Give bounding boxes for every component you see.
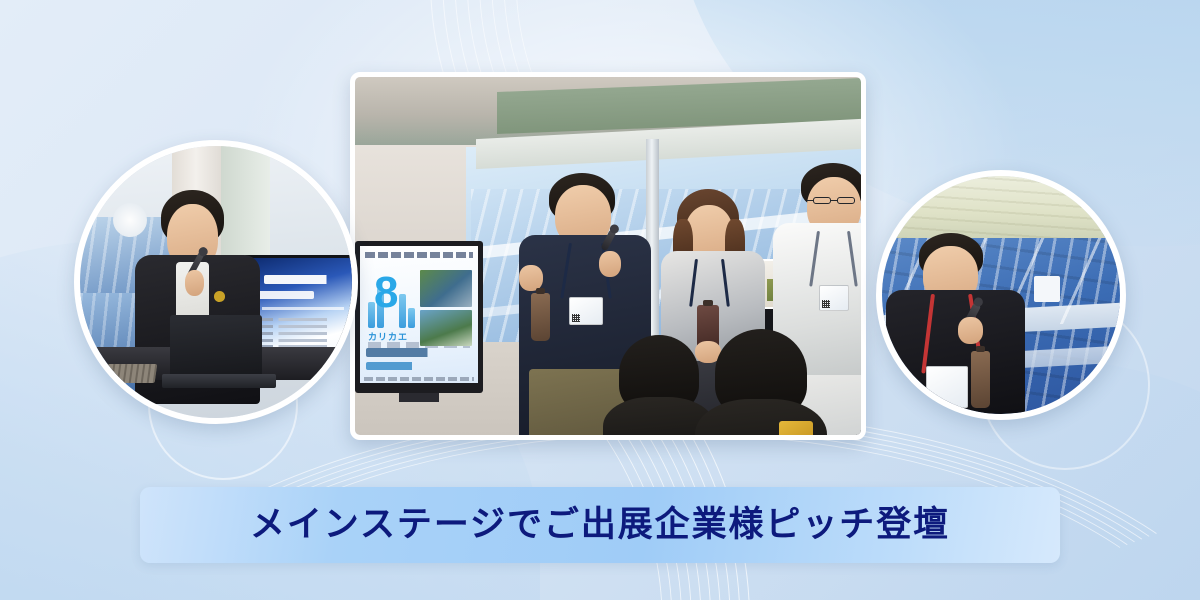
presentation-monitor: 8 カリカエ — [355, 241, 483, 393]
presentation-slide: 8 カリカエ — [360, 246, 478, 383]
photo-right-presenter — [876, 170, 1126, 420]
name-badge — [569, 297, 603, 325]
stadium-sign-box — [1034, 276, 1060, 302]
keyboard — [100, 364, 157, 383]
water-bottle — [531, 293, 550, 341]
audience-member-right — [695, 329, 827, 435]
photo-center-stage-pitch: 8 カリカエ — [350, 72, 866, 440]
laptop-screen — [170, 315, 262, 378]
slide-footer-credits — [364, 377, 474, 381]
caption-text: メインステージでご出展企業様ピッチ登壇 — [250, 508, 950, 543]
slide-photo-grid — [420, 270, 472, 346]
slide-heading-line — [365, 252, 473, 258]
water-bottle — [971, 351, 991, 408]
photo-left-presenter — [74, 140, 358, 424]
name-badge — [819, 285, 849, 311]
slide-canvas: 8 カリカエ — [0, 0, 1200, 600]
monitor-stand — [399, 393, 439, 402]
presenter-black-tee — [896, 233, 1020, 414]
slide-subtitle-1 — [366, 348, 462, 357]
caption-banner: メインステージでご出展企業様ピッチ登壇 — [140, 487, 1060, 563]
laptop-base — [162, 374, 276, 388]
name-badge — [926, 366, 968, 408]
slide-logo-eight: 8 — [374, 274, 396, 311]
venue-ceiling-wood — [882, 176, 1120, 238]
slide-subtitle-2 — [366, 362, 448, 370]
lapel-pin — [214, 291, 225, 302]
